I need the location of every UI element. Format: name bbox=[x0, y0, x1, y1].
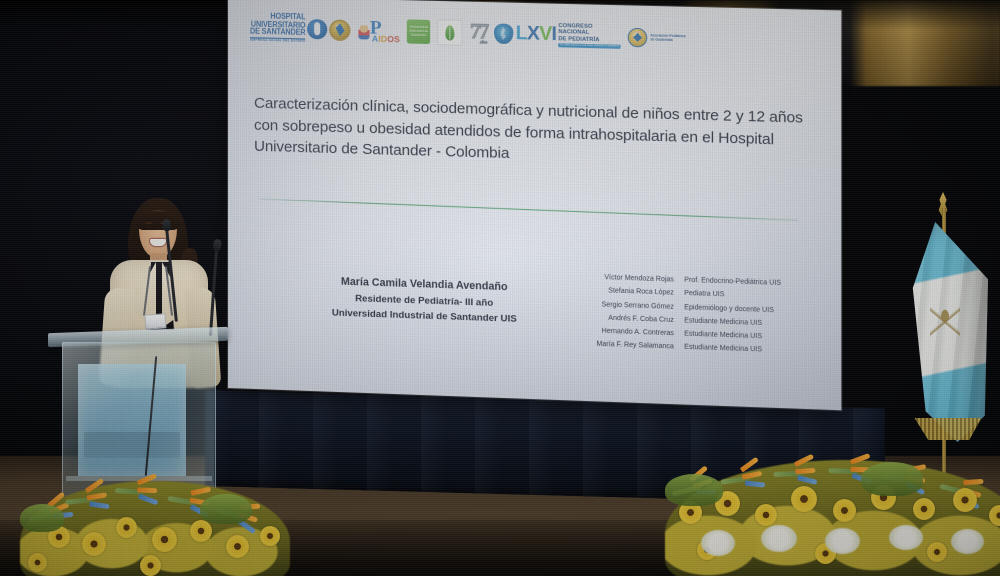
leaf-icon bbox=[446, 25, 455, 40]
hus-emblem-icon bbox=[307, 19, 327, 40]
pidos-logo: P AIDOS bbox=[358, 17, 400, 44]
leaf-box bbox=[438, 19, 463, 46]
speaker-name-badge bbox=[145, 313, 167, 329]
hus-line-3: DE SANTANDER bbox=[250, 28, 305, 37]
hus-tagline: EMPRESA SOCIAL DEL ESTADO bbox=[250, 37, 305, 44]
green-institution-box: Universidad Industrial de Santander bbox=[407, 19, 430, 44]
podium-front-panel bbox=[78, 364, 186, 476]
projection-screen: HOSPITAL UNIVERSITARIO DE SANTANDER EMPR… bbox=[228, 0, 841, 410]
acrylic-podium bbox=[48, 330, 228, 530]
presenter-block: María Camila Velandia Avendaño Residente… bbox=[298, 272, 551, 328]
lxvi-line-3: DE PEDIATRÍA bbox=[558, 36, 620, 44]
leaf-box-logo bbox=[438, 19, 463, 46]
apg-line-2: de Guatemala bbox=[650, 37, 685, 42]
conference-photo: HOSPITAL UNIVERSITARIO DE SANTANDER EMPR… bbox=[0, 0, 1000, 576]
anniversary-number: 77AÑOS bbox=[470, 21, 487, 45]
podium-shelf bbox=[66, 476, 212, 481]
pidos-wordmark: AIDOS bbox=[372, 34, 400, 45]
asociacion-pediatrica-de-guatemala-logo: Asociación Pediátrica de Guatemala bbox=[628, 27, 686, 48]
coauthor-list: Víctor Mendoza Rojas Prof. Endocrino-Ped… bbox=[580, 270, 809, 358]
hospital-universitario-de-santander-logo: HOSPITAL UNIVERSITARIO DE SANTANDER EMPR… bbox=[250, 15, 351, 43]
podium-panel-logo bbox=[84, 432, 180, 458]
anniversary-subtext: AÑOS bbox=[470, 42, 487, 45]
apg-seal-icon bbox=[628, 27, 647, 47]
green-institution-logo: Universidad Industrial de Santander bbox=[407, 19, 430, 44]
flag-coat-of-arms bbox=[930, 300, 960, 340]
hus-seal-icon bbox=[330, 19, 351, 41]
lxvi-ribbon: Un ritmo nuevo a una vieja melodía en pe… bbox=[558, 43, 620, 49]
speaker-smile bbox=[150, 239, 166, 246]
lxvi-numeral: LXVI bbox=[516, 26, 557, 43]
microphone-head-icon bbox=[162, 219, 171, 232]
apg-wordmark: Asociación Pediátrica de Guatemala bbox=[650, 33, 685, 43]
lxvi-globe-icon bbox=[494, 23, 513, 44]
hus-wordmark: HOSPITAL UNIVERSITARIO DE SANTANDER EMPR… bbox=[250, 12, 305, 44]
anniversary-77-logo: 77AÑOS bbox=[470, 21, 487, 45]
lxvi-congreso-logo: LXVI CONGRESO NACIONAL DE PEDIATRÍA Un r… bbox=[494, 21, 620, 48]
speaker-eyebrow-left bbox=[145, 222, 152, 224]
microphone-head-icon bbox=[212, 239, 221, 252]
pidos-child-icon bbox=[359, 25, 370, 39]
lxvi-text-block: CONGRESO NACIONAL DE PEDIATRÍA Un ritmo … bbox=[558, 23, 620, 49]
